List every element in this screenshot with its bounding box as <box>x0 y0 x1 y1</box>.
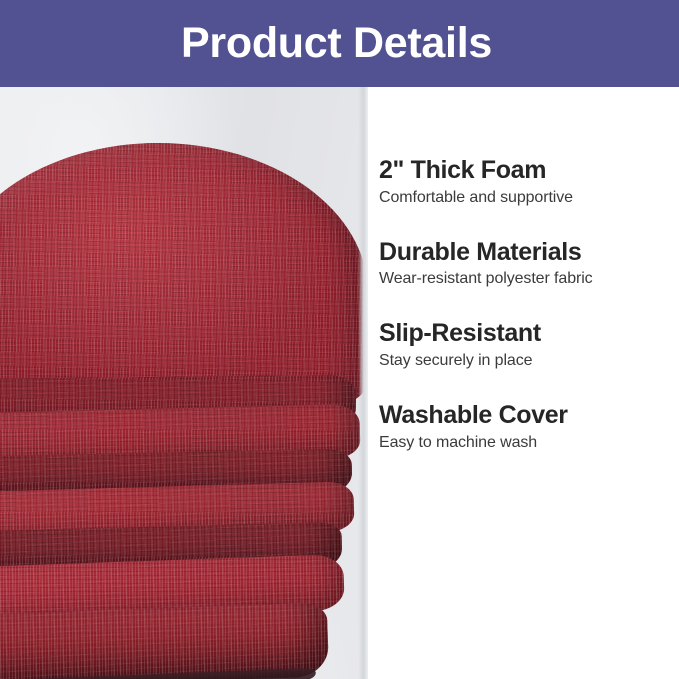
fabric-texture <box>0 602 329 679</box>
feature-description: Stay securely in place <box>379 351 671 370</box>
product-photo <box>0 87 368 679</box>
feature-item-slip-resistant: Slip-Resistant Stay securely in place <box>379 319 671 370</box>
feature-list: 2" Thick Foam Comfortable and supportive… <box>368 87 679 679</box>
feature-title: 2" Thick Foam <box>379 156 671 185</box>
feature-item-durable-materials: Durable Materials Wear-resistant polyest… <box>379 238 671 289</box>
feature-title: Durable Materials <box>379 238 671 267</box>
feature-item-thick-foam: 2" Thick Foam Comfortable and supportive <box>379 156 671 207</box>
header-banner: Product Details <box>0 0 679 87</box>
feature-title: Slip-Resistant <box>379 319 671 348</box>
feature-description: Comfortable and supportive <box>379 188 671 207</box>
feature-description: Easy to machine wash <box>379 433 671 452</box>
feature-description: Wear-resistant polyester fabric <box>379 269 671 288</box>
page-title: Product Details <box>181 22 498 65</box>
photo-right-edge <box>358 87 368 679</box>
feature-item-washable-cover: Washable Cover Easy to machine wash <box>379 401 671 452</box>
cushion-4-side <box>0 602 329 679</box>
product-details-infographic: Product Details <box>0 0 679 679</box>
feature-title: Washable Cover <box>379 401 671 430</box>
